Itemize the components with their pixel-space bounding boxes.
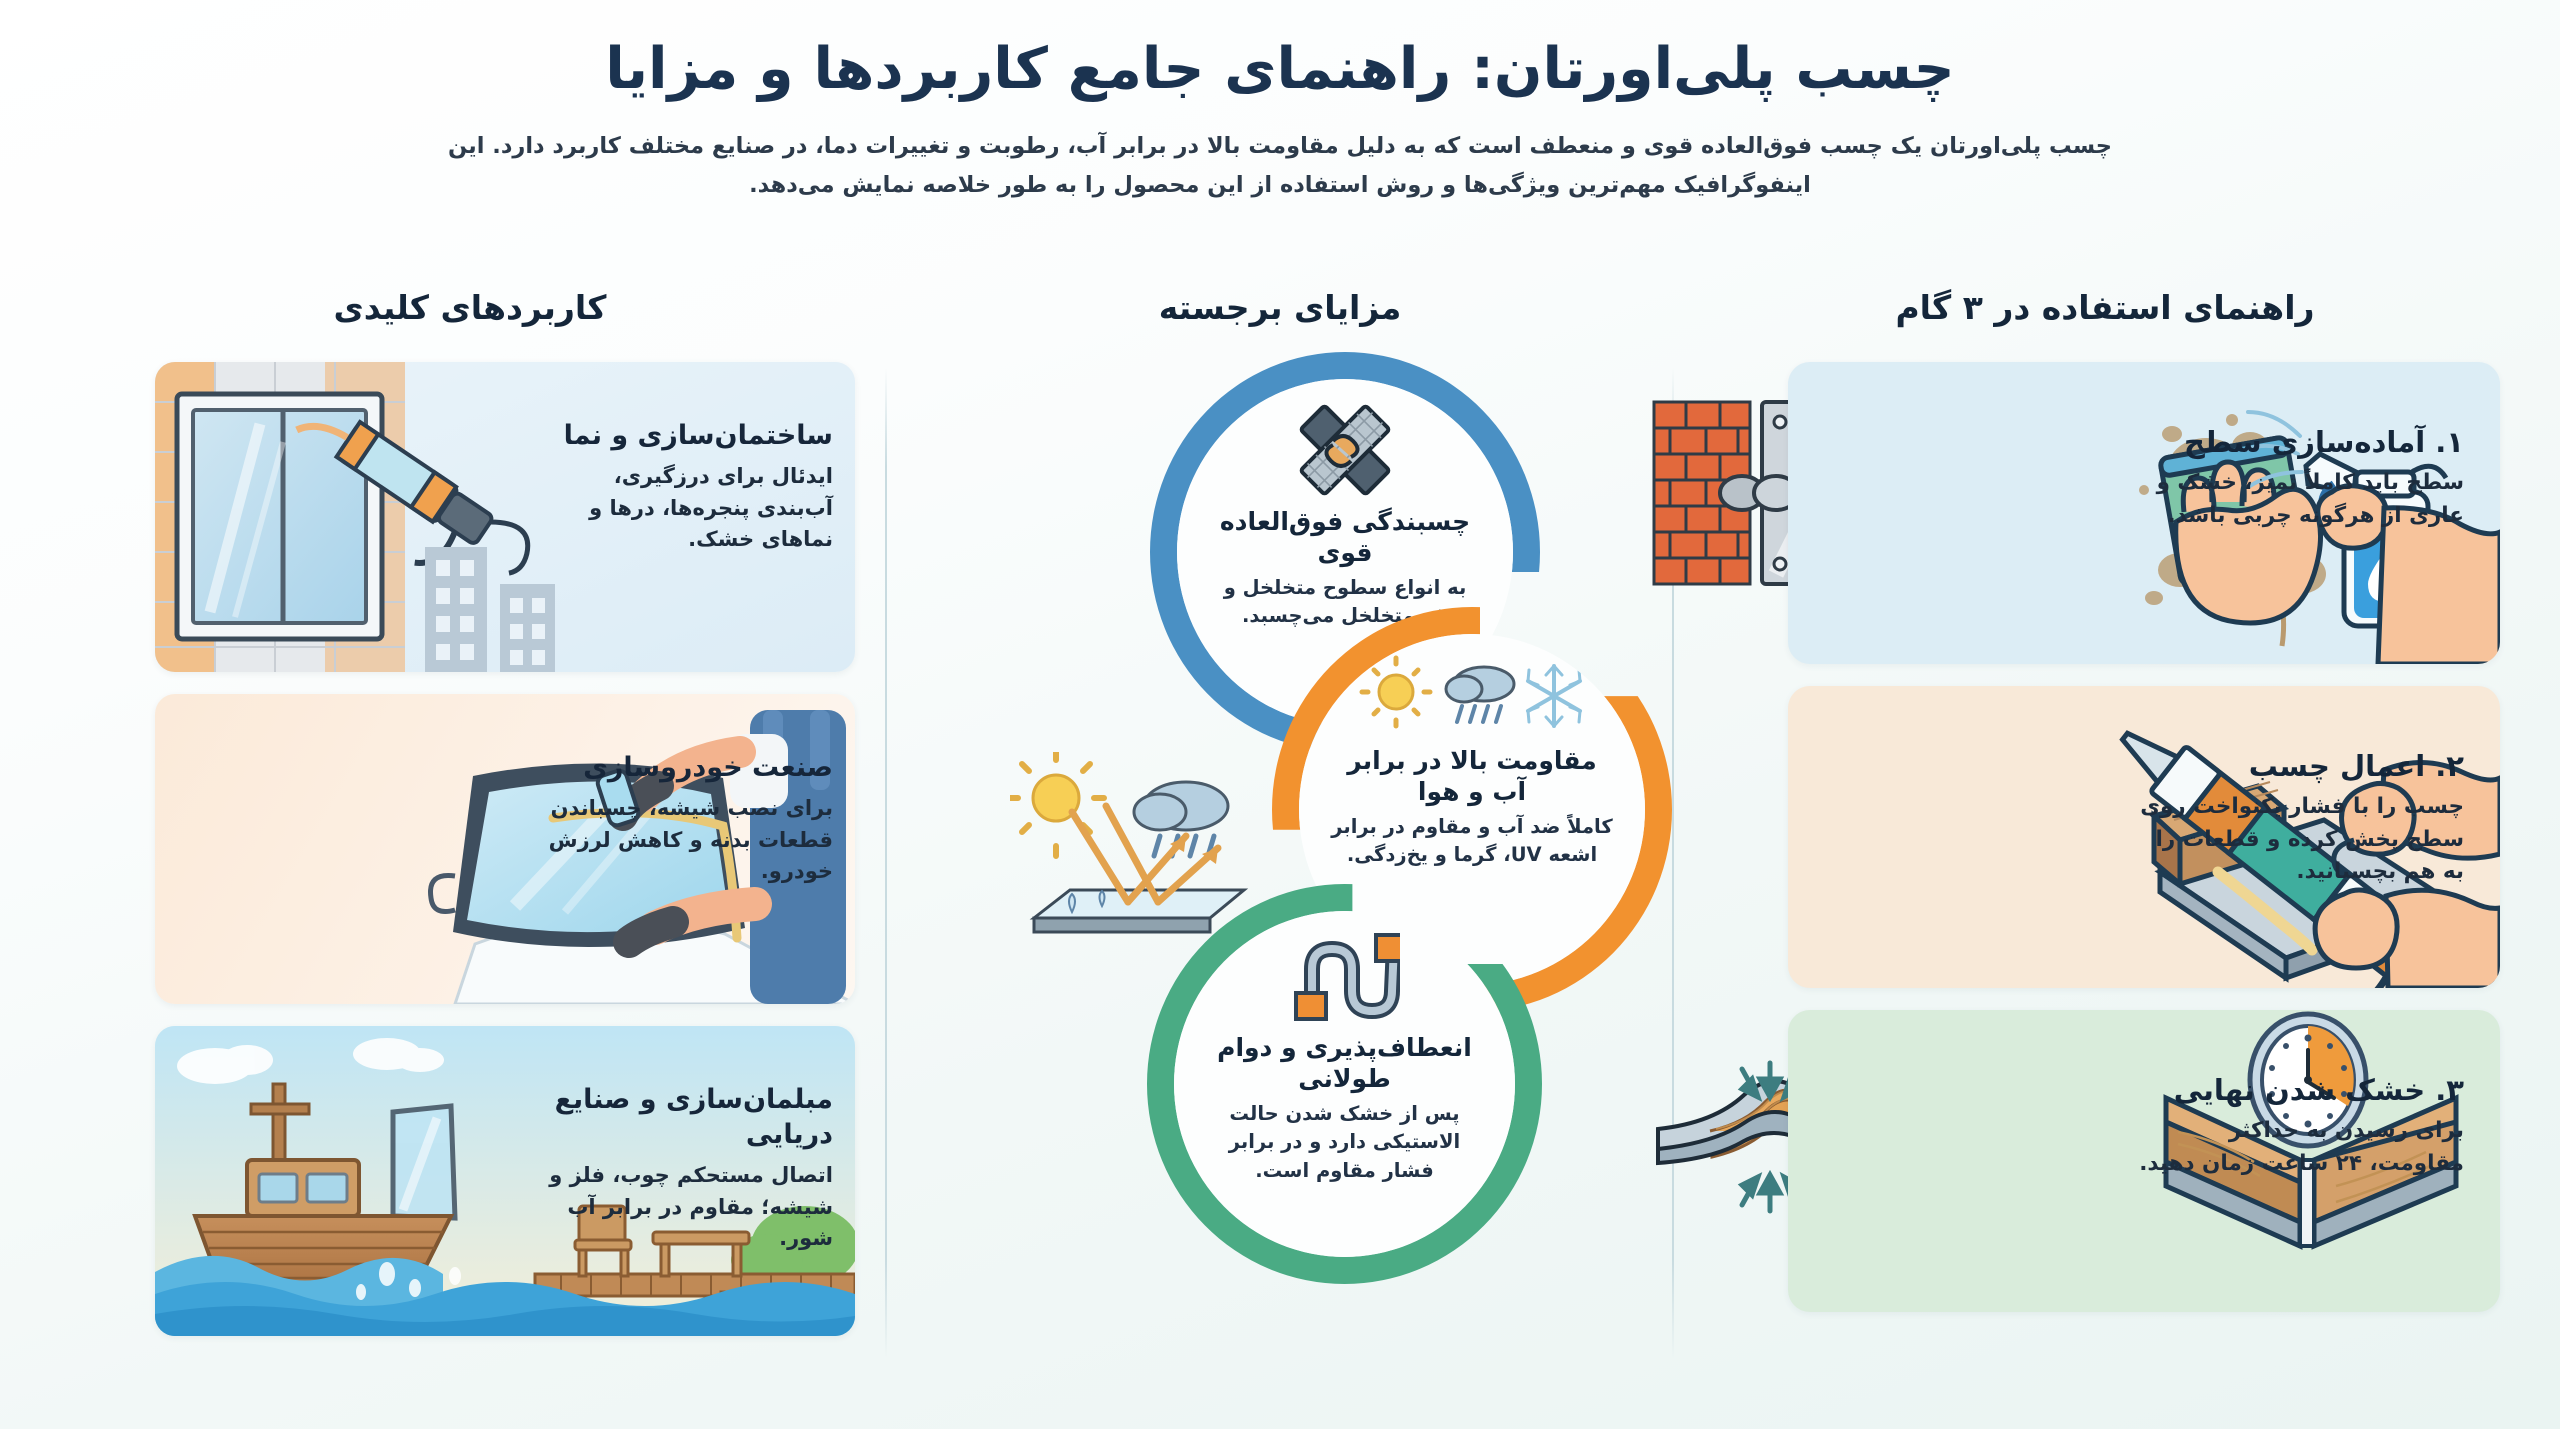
benefit-title: چسبندگی فوق‌العاده قوی	[1213, 507, 1477, 568]
benefit-desc: پس از خشک شدن حالت الاستیکی دارد و در بر…	[1206, 1100, 1483, 1185]
application-title: صنعت خودروسازی	[543, 750, 833, 785]
infographic-header: چسب پلی‌اورتان: راهنمای جامع کاربردها و …	[0, 34, 2560, 205]
column-headings: کاربردهای کلیدی مزایای برجسته راهنمای اس…	[0, 288, 2560, 344]
step-text: ۲. اعمال چسب چسب را با فشار یکنواخت روی …	[2134, 748, 2464, 888]
step-card: ۳. خشک شدن نهایی برای رسیدن به حداکثر مق…	[1788, 1010, 2500, 1312]
application-card: صنعت خودروسازی برای نصب شیشه، چسباندن قط…	[155, 694, 855, 1004]
page-title: چسب پلی‌اورتان: راهنمای جامع کاربردها و …	[330, 34, 2230, 105]
step-title: ۱. آماده‌سازی سطح	[2134, 424, 2464, 460]
divider-left	[885, 368, 887, 1358]
steps-column: ۱. آماده‌سازی سطح سطح باید کاملاً تمیز، …	[1760, 362, 2500, 1334]
application-title: ساختمان‌سازی و نما	[543, 418, 833, 453]
application-desc: برای نصب شیشه، چسباندن قطعات بدنه و کاهش…	[543, 793, 833, 888]
benefits-heading: مزایای برجسته	[890, 288, 1670, 327]
benefit-content: انعطاف‌پذیری و دوام طولانی پس از خشک شدن…	[1174, 911, 1515, 1257]
step-text: ۱. آماده‌سازی سطح سطح باید کاملاً تمیز، …	[2134, 424, 2464, 532]
application-card: مبلمان‌سازی و صنایع دریایی اتصال مستحکم …	[155, 1026, 855, 1336]
step-card: ۱. آماده‌سازی سطح سطح باید کاملاً تمیز، …	[1788, 362, 2500, 664]
benefit-circle: انعطاف‌پذیری و دوام طولانی پس از خشک شدن…	[1147, 884, 1542, 1284]
application-card: ساختمان‌سازی و نما ایدئال برای درزگیری، …	[155, 362, 855, 672]
applications-column: ساختمان‌سازی و نما ایدئال برای درزگیری، …	[125, 362, 855, 1358]
step-desc: چسب را با فشار یکنواخت روی سطح پخش کرده …	[2134, 791, 2464, 888]
interlocking-bond-icon	[1289, 399, 1401, 505]
page-subtitle: چسب پلی‌اورتان یک چسب فوق‌العاده قوی و م…	[330, 127, 2230, 204]
steps-heading: راهنمای استفاده در ۳ گام	[1710, 288, 2500, 327]
benefit-desc: کاملاً ضد آب و مقاوم در برابر اشعه UV، گ…	[1327, 813, 1617, 870]
flexible-s-curve-icon	[1290, 931, 1400, 1031]
step-desc: برای رسیدن به حداکثر مقاومت، ۲۴ ساعت زما…	[2134, 1115, 2464, 1180]
application-desc: ایدئال برای درزگیری، آب‌بندی پنجره‌ها، د…	[543, 461, 833, 556]
step-desc: سطح باید کاملاً تمیز، خشک و عاری از هرگو…	[2134, 467, 2464, 532]
step-title: ۲. اعمال چسب	[2134, 748, 2464, 784]
applications-heading: کاربردهای کلیدی	[100, 288, 840, 327]
step-text: ۳. خشک شدن نهایی برای رسیدن به حداکثر مق…	[2134, 1072, 2464, 1180]
application-text: ساختمان‌سازی و نما ایدئال برای درزگیری، …	[543, 418, 833, 556]
benefits-column: چسبندگی فوق‌العاده قوی به انواع سطوح متخ…	[900, 352, 1660, 1352]
benefit-title: مقاومت بالا در برابر آب و هوا	[1327, 746, 1617, 807]
step-card: ۲. اعمال چسب چسب را با فشار یکنواخت روی …	[1788, 686, 2500, 988]
application-title: مبلمان‌سازی و صنایع دریایی	[543, 1082, 833, 1152]
application-desc: اتصال مستحکم چوب، فلز و شیشه؛ مقاوم در ب…	[543, 1160, 833, 1255]
application-text: صنعت خودروسازی برای نصب شیشه، چسباندن قط…	[543, 750, 833, 888]
sun-rain-snow-icon	[1358, 654, 1586, 744]
application-text: مبلمان‌سازی و صنایع دریایی اتصال مستحکم …	[543, 1082, 833, 1255]
step-title: ۳. خشک شدن نهایی	[2134, 1072, 2464, 1108]
benefit-title: انعطاف‌پذیری و دوام طولانی	[1206, 1033, 1483, 1094]
